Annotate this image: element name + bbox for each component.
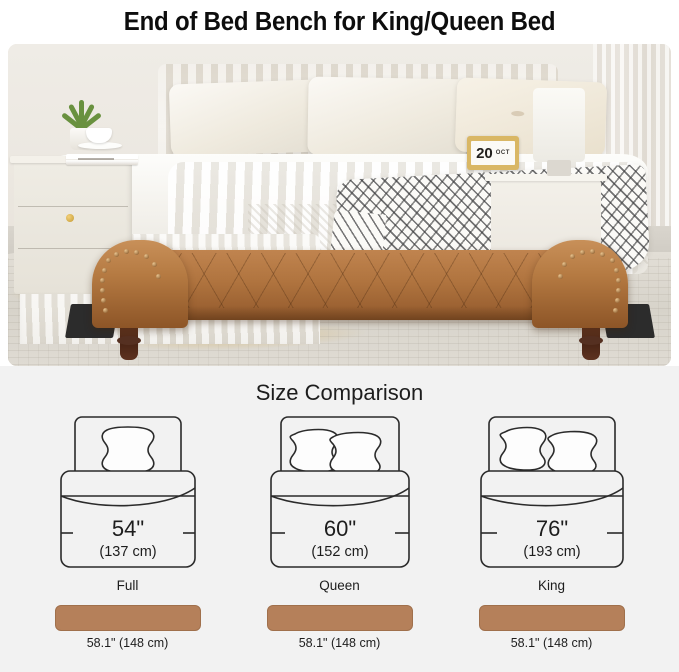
- bed-width-cm: (193 cm): [523, 544, 580, 560]
- nailhead-trim: [532, 240, 628, 328]
- bed-width-inches: 54": [111, 516, 143, 541]
- bench-width-label: 58.1" (148 cm): [299, 636, 381, 650]
- calendar-month: OCT: [496, 150, 510, 156]
- bed-pillow: [169, 79, 321, 156]
- page-title-bar: End of Bed Bench for King/Queen Bed: [0, 0, 679, 44]
- leather-storage-bench: [92, 240, 628, 332]
- bench-leg: [582, 324, 600, 360]
- pillow-shape: [330, 433, 381, 475]
- pillow-shape: [102, 427, 154, 473]
- coffee-saucer: [78, 142, 122, 149]
- page-title: End of Bed Bench for King/Queen Bed: [124, 8, 556, 37]
- bed-size-list: 54" (137 cm) Full 58.1" (148 cm): [0, 414, 679, 650]
- bed-width-inches: 60": [323, 516, 355, 541]
- bed-width-cm: (137 cm): [99, 544, 156, 560]
- bedroom-scene: 20 OCT: [8, 44, 671, 366]
- bed-size-name: Full: [117, 578, 139, 593]
- bed-size-card-queen: 60" (152 cm) Queen 58.1" (148 cm): [267, 414, 413, 650]
- desk-calendar: 20 OCT: [467, 136, 519, 170]
- bench-width-bar: [479, 605, 625, 631]
- bed-size-name: Queen: [319, 578, 360, 593]
- bed-diagram-queen: 60" (152 cm): [267, 414, 413, 572]
- hero-product-photo: 20 OCT: [8, 44, 671, 366]
- size-comparison-panel: Size Comparison 54" (137 cm): [0, 366, 679, 672]
- bench-leg: [120, 324, 138, 360]
- drawer-knob: [66, 214, 74, 222]
- bed-width-inches: 76": [535, 516, 567, 541]
- bed-diagram-king: 76" (193 cm): [479, 414, 625, 572]
- bed-diagram-full: 54" (137 cm): [55, 414, 201, 572]
- table-lamp-base: [547, 160, 571, 176]
- bed-pillow: [307, 77, 468, 158]
- bench-rolled-arm-left: [92, 240, 188, 328]
- nailhead-trim: [92, 240, 188, 328]
- stacked-books: [66, 154, 138, 165]
- pillow-shape: [548, 432, 597, 474]
- bed-size-name: King: [538, 578, 565, 593]
- drawer-line: [18, 206, 128, 207]
- bench-width-bar: [55, 605, 201, 631]
- bench-width-label: 58.1" (148 cm): [511, 636, 593, 650]
- product-image-page: End of Bed Bench for King/Queen Bed: [0, 0, 679, 672]
- table-lamp-shade: [533, 88, 585, 162]
- bench-width-bar: [267, 605, 413, 631]
- bench-rolled-arm-right: [532, 240, 628, 328]
- calendar-day: 20: [476, 146, 493, 161]
- bench-tufted-seat: [150, 250, 570, 320]
- size-comparison-title: Size Comparison: [0, 380, 679, 406]
- bench-width-label: 58.1" (148 cm): [87, 636, 169, 650]
- bed-size-card-king: 76" (193 cm) King 58.1" (148 cm): [479, 414, 625, 650]
- pillow-shape: [500, 428, 546, 470]
- calendar-face: 20 OCT: [471, 141, 515, 165]
- bed-width-cm: (152 cm): [311, 544, 368, 560]
- bed-size-card-full: 54" (137 cm) Full 58.1" (148 cm): [55, 414, 201, 650]
- nightstand-top: [485, 174, 607, 181]
